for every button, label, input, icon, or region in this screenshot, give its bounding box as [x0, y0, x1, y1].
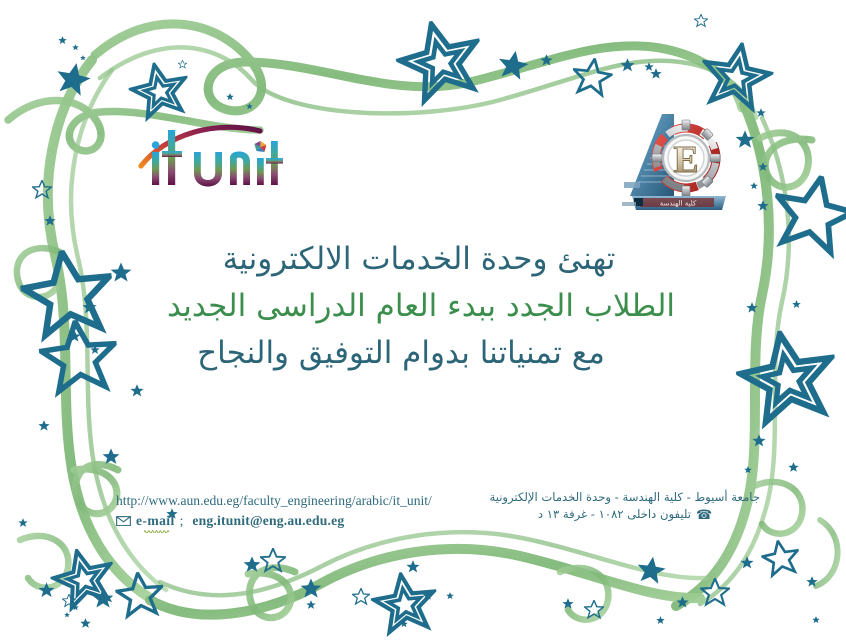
website-url[interactable]: http://www.aun.edu.eg/faculty_engineerin… [116, 492, 476, 511]
email-row: e-mail ; eng.itunit@eng.au.edu.eg [116, 512, 476, 531]
spellcheck-squiggle [144, 529, 170, 533]
footer-contact-right: جامعة أسيوط - كلية الهندسة - وحدة الخدما… [490, 489, 760, 524]
telephone-icon: ☎ [696, 509, 712, 522]
it-unit-logo [138, 118, 298, 203]
greeting-card: E كلية الهندسة تهنئ وحدة الخدمات الالكتر… [0, 0, 846, 643]
message-line-1: تهنئ وحدة الخدمات الالكترونية [120, 236, 726, 283]
envelope-icon [116, 516, 131, 527]
message-line-2: الطلاب الجدد ببدء العام الدراسى الجديد [120, 283, 726, 330]
message-line-3: مع تمنياتنا بدوام التوفيق والنجاح [120, 330, 726, 377]
email-separator: ; [180, 512, 184, 531]
eng-logo-caption: كلية الهندسة [660, 200, 697, 208]
svg-text:E: E [673, 139, 698, 181]
footer-contact-left: http://www.aun.edu.eg/faculty_engineerin… [116, 492, 476, 531]
organization-line: جامعة أسيوط - كلية الهندسة - وحدة الخدما… [490, 489, 760, 506]
email-label-text: e-mail [136, 513, 175, 528]
faculty-of-engineering-logo: E كلية الهندسة [622, 110, 734, 216]
email-address[interactable]: eng.itunit@eng.au.edu.eg [192, 512, 344, 531]
email-label: e-mail [135, 512, 176, 531]
greeting-message: تهنئ وحدة الخدمات الالكترونية الطلاب الج… [120, 236, 726, 377]
phone-text: تليفون داخلى ١٠٨٢ - غرفة ١٣ د [538, 506, 691, 523]
phone-line: ☎ تليفون داخلى ١٠٨٢ - غرفة ١٣ د [490, 506, 760, 523]
